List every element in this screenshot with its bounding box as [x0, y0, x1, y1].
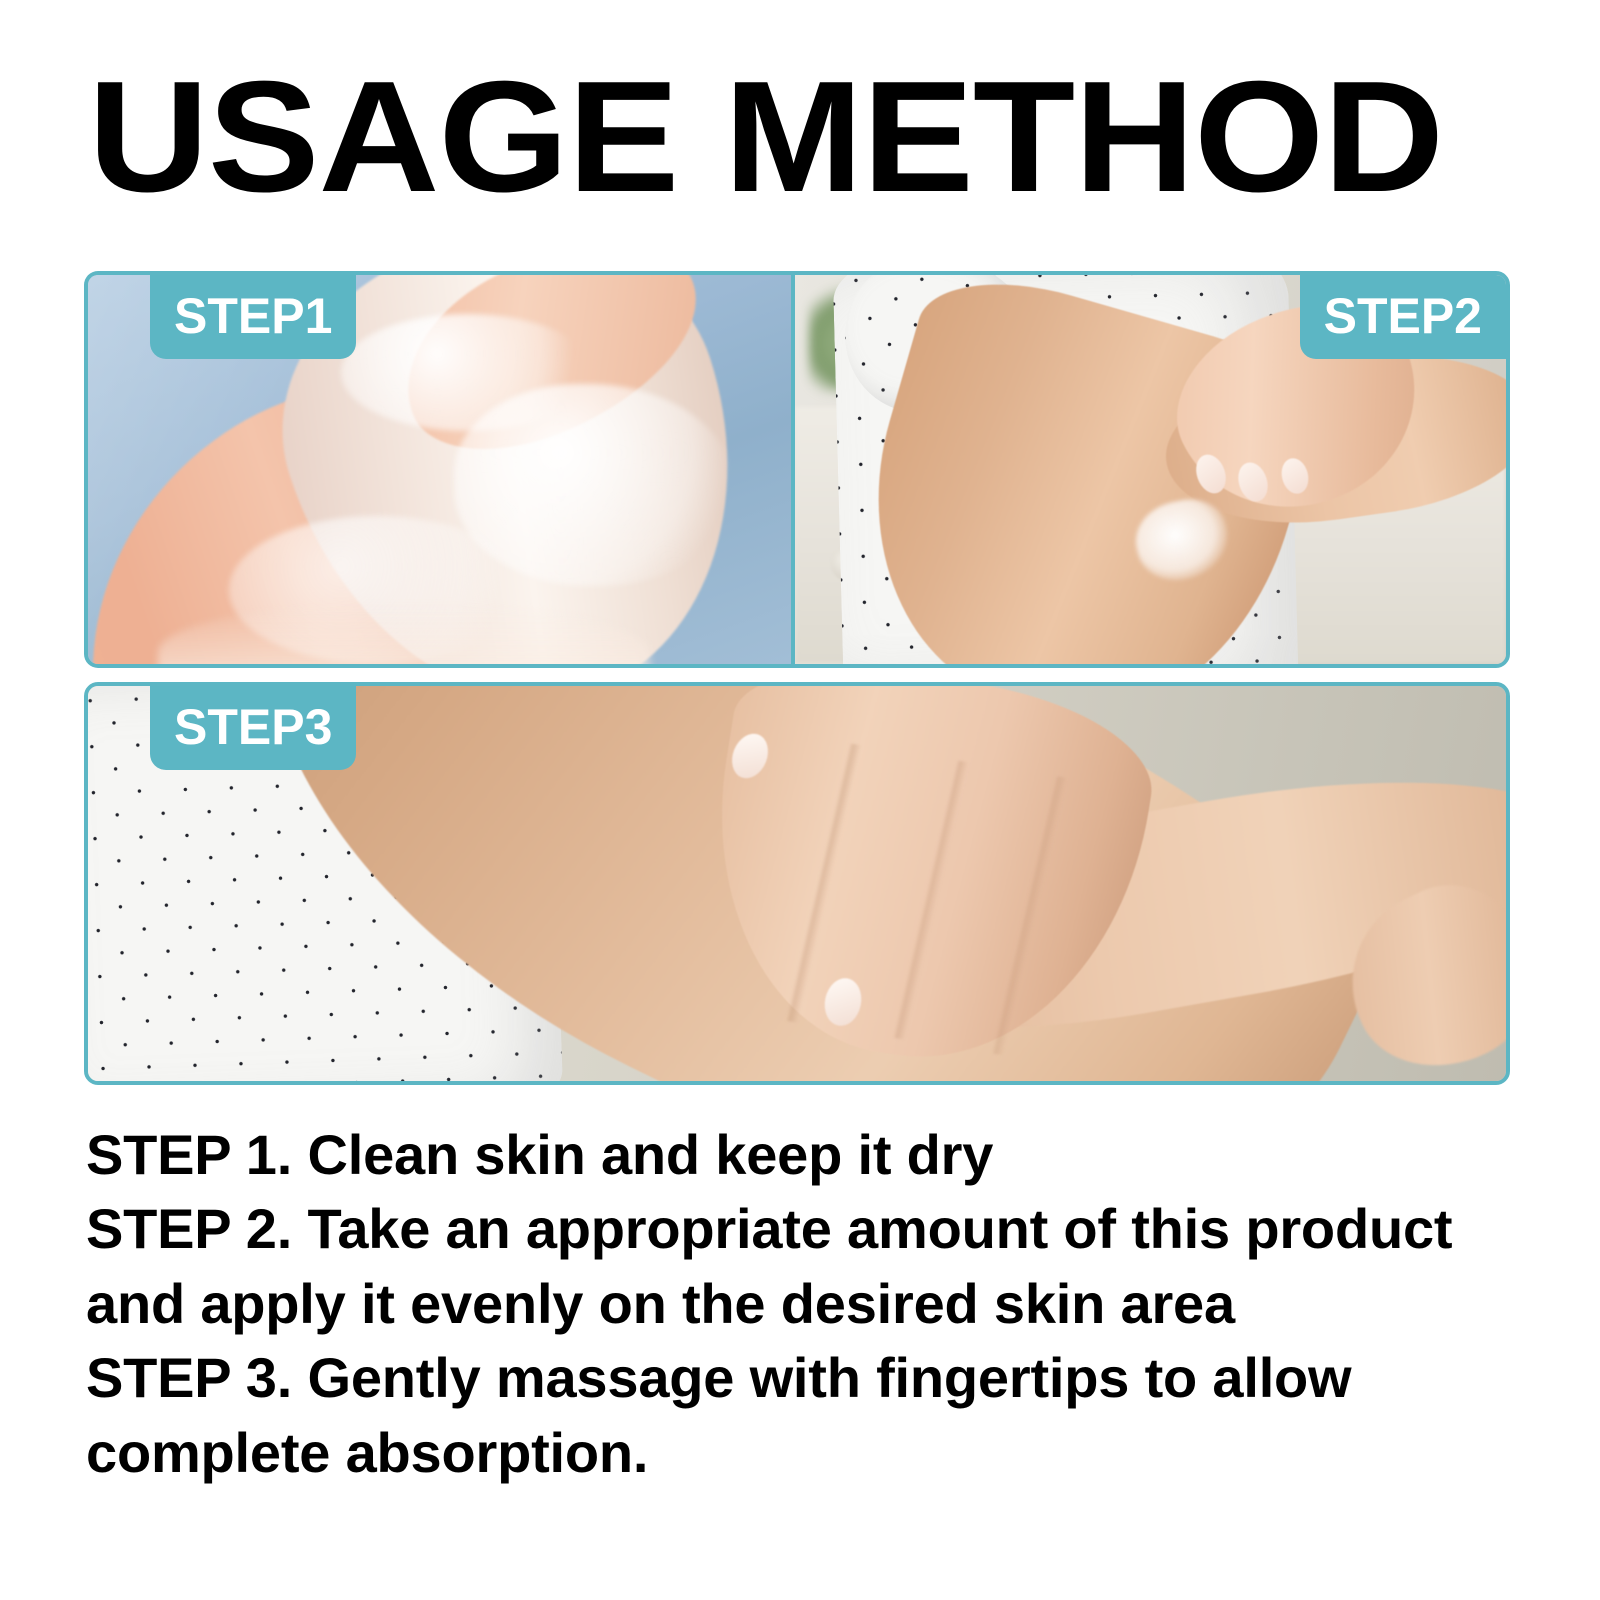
- instruction-line-1: STEP 1. Clean skin and keep it dry: [86, 1118, 1526, 1192]
- step1-badge: STEP1: [150, 275, 356, 359]
- step2-badge: STEP2: [1300, 275, 1506, 359]
- instruction-line-3: and apply it evenly on the desired skin …: [86, 1267, 1526, 1341]
- steps-top-row: STEP1 STE: [84, 271, 1510, 668]
- instruction-line-5: complete absorption.: [86, 1416, 1526, 1490]
- step2-image-panel[interactable]: STEP2: [791, 271, 1510, 668]
- instructions-block: STEP 1. Clean skin and keep it dry STEP …: [86, 1118, 1526, 1490]
- step3-badge: STEP3: [150, 686, 356, 770]
- steps-image-grid: STEP1 STE: [84, 271, 1510, 1085]
- usage-method-infographic: USAGE METHOD STEP1: [0, 0, 1600, 1600]
- step3-image-panel[interactable]: STEP3: [84, 682, 1510, 1085]
- step1-image-panel[interactable]: STEP1: [84, 271, 791, 668]
- instruction-line-4: STEP 3. Gently massage with fingertips t…: [86, 1341, 1526, 1415]
- instruction-line-2: STEP 2. Take an appropriate amount of th…: [86, 1192, 1526, 1266]
- page-title: USAGE METHOD: [88, 58, 1600, 216]
